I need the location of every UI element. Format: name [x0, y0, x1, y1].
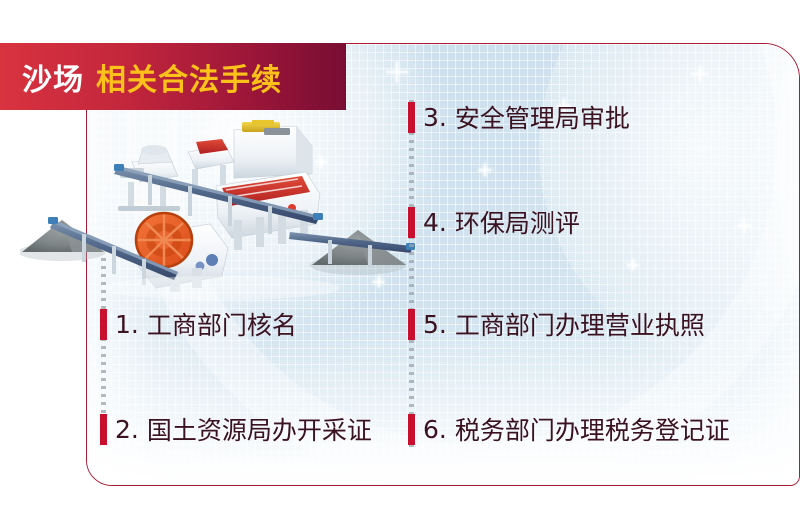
bullet-marker	[408, 309, 415, 340]
list-item[interactable]: 3. 安全管理局审批	[408, 99, 630, 135]
sparkle-icon	[479, 164, 491, 176]
banner-title-sub: 相关合法手续	[96, 55, 282, 99]
bullet-marker	[408, 102, 415, 133]
infographic-canvas: 沙场 相关合法手续 1. 工商部门核名 2. 国土资源局办开采证 3. 安全管理…	[0, 0, 800, 530]
bullet-marker	[408, 207, 415, 238]
sparkle-icon	[627, 259, 638, 270]
list-item[interactable]: 5. 工商部门办理营业执照	[408, 306, 705, 342]
bullet-marker	[408, 414, 415, 445]
storage-bunker	[234, 120, 312, 178]
list-item[interactable]: 6. 税务部门办理税务登记证	[408, 411, 730, 447]
banner-title-main: 沙场	[22, 55, 84, 99]
sparkle-icon	[692, 66, 708, 82]
sand-production-line-illustration	[20, 120, 420, 300]
bullet-marker	[100, 414, 107, 445]
list-item-index: 4.	[423, 208, 447, 237]
connector-rail-right	[409, 100, 414, 450]
title-banner: 沙场 相关合法手续	[0, 43, 346, 110]
list-item-index: 5.	[423, 310, 447, 339]
list-item-label: 工商部门办理营业执照	[455, 306, 705, 342]
list-item-label: 税务部门办理税务登记证	[455, 411, 730, 447]
list-item-index: 3.	[423, 103, 447, 132]
list-item-index: 1.	[115, 310, 139, 339]
list-item[interactable]: 2. 国土资源局办开采证	[100, 411, 372, 447]
list-item[interactable]: 1. 工商部门核名	[100, 306, 297, 342]
list-item-label: 安全管理局审批	[455, 99, 630, 135]
list-item-label: 国土资源局办开采证	[147, 411, 372, 447]
bullet-marker	[100, 309, 107, 340]
list-item-index: 6.	[423, 415, 447, 444]
sparkle-icon	[387, 62, 407, 82]
list-item-label: 环保局测评	[455, 204, 580, 240]
list-item-index: 2.	[115, 415, 139, 444]
list-item-label: 工商部门核名	[147, 306, 297, 342]
list-item[interactable]: 4. 环保局测评	[408, 204, 580, 240]
sparkle-icon	[737, 219, 751, 233]
